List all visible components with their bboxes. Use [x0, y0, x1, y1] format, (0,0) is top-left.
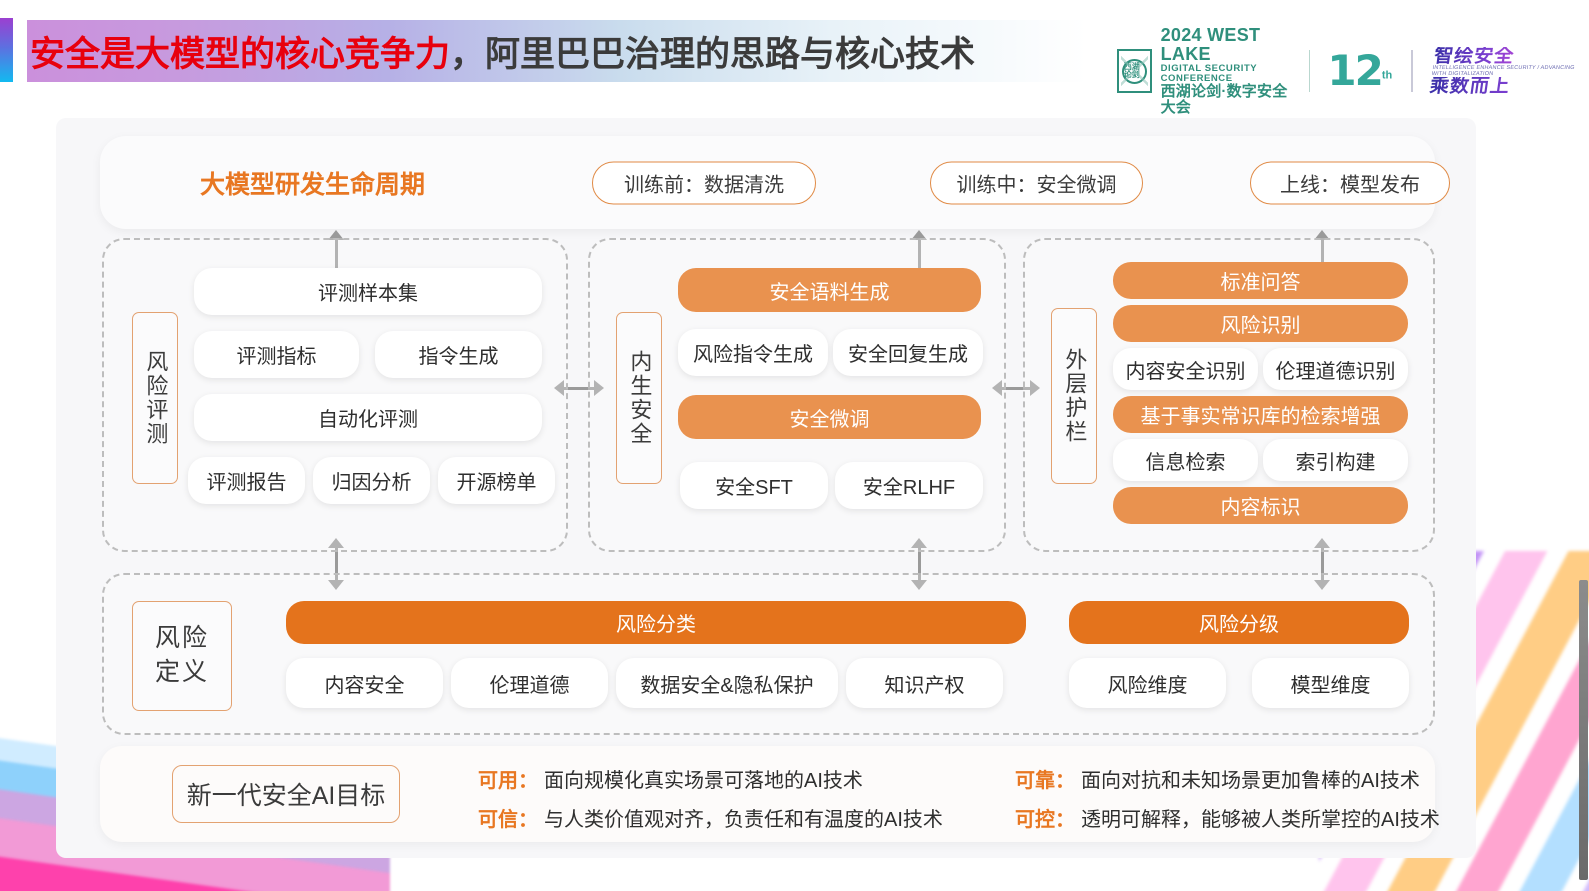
chip-guard-information-retrieval[interactable]: 信息检索 [1113, 439, 1258, 481]
chip-eval-report[interactable]: 评测报告 [188, 457, 305, 504]
conference-logo: 西湖论剑 2024 WEST LAKE DIGITAL SECURITY CON… [1117, 26, 1589, 116]
slogan-line-1: 智绘安全 [1433, 47, 1589, 66]
edition-badge: 12th [1327, 52, 1392, 90]
diagram-canvas: 大模型研发生命周期 训练前：数据清洗 训练中：安全微调 上线：模型发布 [56, 118, 1476, 858]
goal-item-reliable: 可靠： 面向对抗和未知场景更加鲁棒的AI技术 [1015, 764, 1440, 793]
panel-label-risk-definition-text: 风险定义 [155, 622, 210, 690]
chip-eval-attribution[interactable]: 归因分析 [313, 457, 430, 504]
goals-card: 新一代安全AI目标 可用： 面向规模化真实场景可落地的AI技术 可信： 与人类价… [100, 746, 1435, 842]
panel-risk-definition: 风险定义 风险分类 内容安全 伦理道德 数据安全&隐私保护 知识产权 风险分级 … [102, 573, 1435, 735]
panel-risk-evaluation: 风险评测 评测样本集 评测指标 指令生成 自动化评测 评测报告 归因分析 开源榜… [102, 238, 568, 552]
chip-guard-standard-qa[interactable]: 标准问答 [1113, 262, 1408, 299]
chip-guard-content-watermark[interactable]: 内容标识 [1113, 487, 1408, 524]
chip-intrinsic-risk-instruction-gen[interactable]: 风险指令生成 [678, 329, 828, 376]
slogan-line-2: 乘数而上 [1428, 77, 1588, 96]
slogan-subtitle: INTELLIGENCE ENHANCE SECURITY / ADVANCIN… [1431, 66, 1589, 77]
chip-guard-risk-recognition[interactable]: 风险识别 [1113, 305, 1408, 342]
chip-eval-open-leaderboard[interactable]: 开源榜单 [438, 457, 555, 504]
chip-eval-metrics[interactable]: 评测指标 [194, 331, 359, 378]
goal-item-controllable: 可控： 透明可解释，能够被人类所掌控的AI技术 [1015, 803, 1440, 832]
page-title: 安全是大模型的核心竞争力，阿里巴巴治理的思路与核心技术 [30, 22, 975, 80]
conference-slogan: 智绘安全 INTELLIGENCE ENHANCE SECURITY / ADV… [1428, 47, 1589, 96]
chip-intrinsic-corpus-gen[interactable]: 安全语料生成 [678, 268, 981, 312]
page-title-rest: ，阿里巴巴治理的思路与核心技术 [450, 26, 975, 77]
chip-eval-sample-set[interactable]: 评测样本集 [194, 268, 542, 315]
panel-label-risk-definition: 风险定义 [132, 601, 232, 711]
chip-risk-class-content-safety[interactable]: 内容安全 [286, 658, 443, 708]
chip-guard-content-safety-recognition[interactable]: 内容安全识别 [1113, 348, 1258, 390]
goal-key-trustworthy: 可信： [478, 803, 538, 832]
goal-item-available: 可用： 面向规模化真实场景可落地的AI技术 [478, 764, 943, 793]
chip-intrinsic-safe-reply-gen[interactable]: 安全回复生成 [833, 329, 983, 376]
lifecycle-card: 大模型研发生命周期 训练前：数据清洗 训练中：安全微调 上线：模型发布 [100, 136, 1435, 229]
goal-value-reliable: 面向对抗和未知场景更加鲁棒的AI技术 [1081, 764, 1420, 793]
lifecycle-title: 大模型研发生命周期 [200, 165, 425, 201]
goal-value-available: 面向规模化真实场景可落地的AI技术 [544, 764, 863, 793]
page-title-highlight: 安全是大模型的核心竞争力 [30, 26, 450, 77]
goal-value-controllable: 透明可解释，能够被人类所掌控的AI技术 [1081, 803, 1440, 832]
chip-risk-class-data-privacy[interactable]: 数据安全&隐私保护 [616, 658, 838, 708]
panel-outer-guardrail: 外层护栏 标准问答 风险识别 内容安全识别 伦理道德识别 基于事实常识库的检索增… [1023, 238, 1435, 552]
chip-guard-rag-factbase[interactable]: 基于事实常识库的检索增强 [1113, 396, 1408, 433]
right-edge-scrollbar[interactable] [1579, 580, 1588, 880]
chip-guard-index-building[interactable]: 索引构建 [1263, 439, 1408, 481]
logo-divider-2 [1411, 50, 1413, 92]
edition-number: 12 [1327, 46, 1381, 95]
panel-label-intrinsic-security: 内生安全 [616, 312, 662, 484]
logo-line-2: DIGITAL SECURITY CONFERENCE [1161, 64, 1292, 84]
goal-key-available: 可用： [478, 764, 538, 793]
chip-risk-class-ip[interactable]: 知识产权 [846, 658, 1003, 708]
goals-column-left: 可用： 面向规模化真实场景可落地的AI技术 可信： 与人类价值观对齐，负责任和有… [478, 764, 943, 832]
logo-divider-1 [1309, 50, 1311, 92]
lifecycle-stage-in-training[interactable]: 训练中：安全微调 [930, 161, 1143, 204]
seal-cross-icon [1121, 53, 1148, 89]
chip-eval-automated[interactable]: 自动化评测 [194, 394, 542, 441]
goal-key-reliable: 可靠： [1015, 764, 1075, 793]
logo-line-1: 2024 WEST LAKE [1161, 26, 1292, 64]
panel-label-risk-evaluation: 风险评测 [132, 312, 178, 484]
slide-root: 安全是大模型的核心竞争力，阿里巴巴治理的思路与核心技术 西湖论剑 2024 WE… [0, 0, 1589, 891]
goal-item-trustworthy: 可信： 与人类价值观对齐，负责任和有温度的AI技术 [478, 803, 943, 832]
chip-intrinsic-safety-finetune[interactable]: 安全微调 [678, 395, 981, 439]
chip-risk-classification-header[interactable]: 风险分类 [286, 601, 1026, 644]
westlake-seal-icon: 西湖论剑 [1117, 49, 1152, 93]
chip-intrinsic-safe-sft[interactable]: 安全SFT [680, 462, 828, 509]
header-accent-bar [0, 18, 13, 82]
panel-label-outer-guardrail: 外层护栏 [1051, 308, 1097, 484]
panel-intrinsic-security: 内生安全 安全语料生成 风险指令生成 安全回复生成 安全微调 安全SFT 安全R… [588, 238, 1006, 552]
chip-risk-grading-header[interactable]: 风险分级 [1069, 601, 1409, 644]
lifecycle-stage-release[interactable]: 上线：模型发布 [1250, 161, 1450, 204]
logo-text-block: 2024 WEST LAKE DIGITAL SECURITY CONFEREN… [1161, 26, 1292, 116]
edition-suffix: th [1382, 70, 1392, 82]
chip-risk-grade-model-dimension[interactable]: 模型维度 [1252, 658, 1409, 708]
chip-guard-ethics-recognition[interactable]: 伦理道德识别 [1263, 348, 1408, 390]
chip-intrinsic-safe-rlhf[interactable]: 安全RLHF [835, 462, 983, 509]
goals-column-right: 可靠： 面向对抗和未知场景更加鲁棒的AI技术 可控： 透明可解释，能够被人类所掌… [1015, 764, 1440, 832]
lifecycle-stage-pre-training[interactable]: 训练前：数据清洗 [592, 161, 816, 204]
chip-eval-instruction-gen[interactable]: 指令生成 [375, 331, 542, 378]
goals-badge: 新一代安全AI目标 [172, 765, 400, 823]
goal-value-trustworthy: 与人类价值观对齐，负责任和有温度的AI技术 [544, 803, 943, 832]
chip-risk-class-ethics[interactable]: 伦理道德 [451, 658, 608, 708]
logo-line-3: 西湖论剑·数字安全大会 [1161, 84, 1292, 116]
goal-key-controllable: 可控： [1015, 803, 1075, 832]
chip-risk-grade-risk-dimension[interactable]: 风险维度 [1069, 658, 1226, 708]
